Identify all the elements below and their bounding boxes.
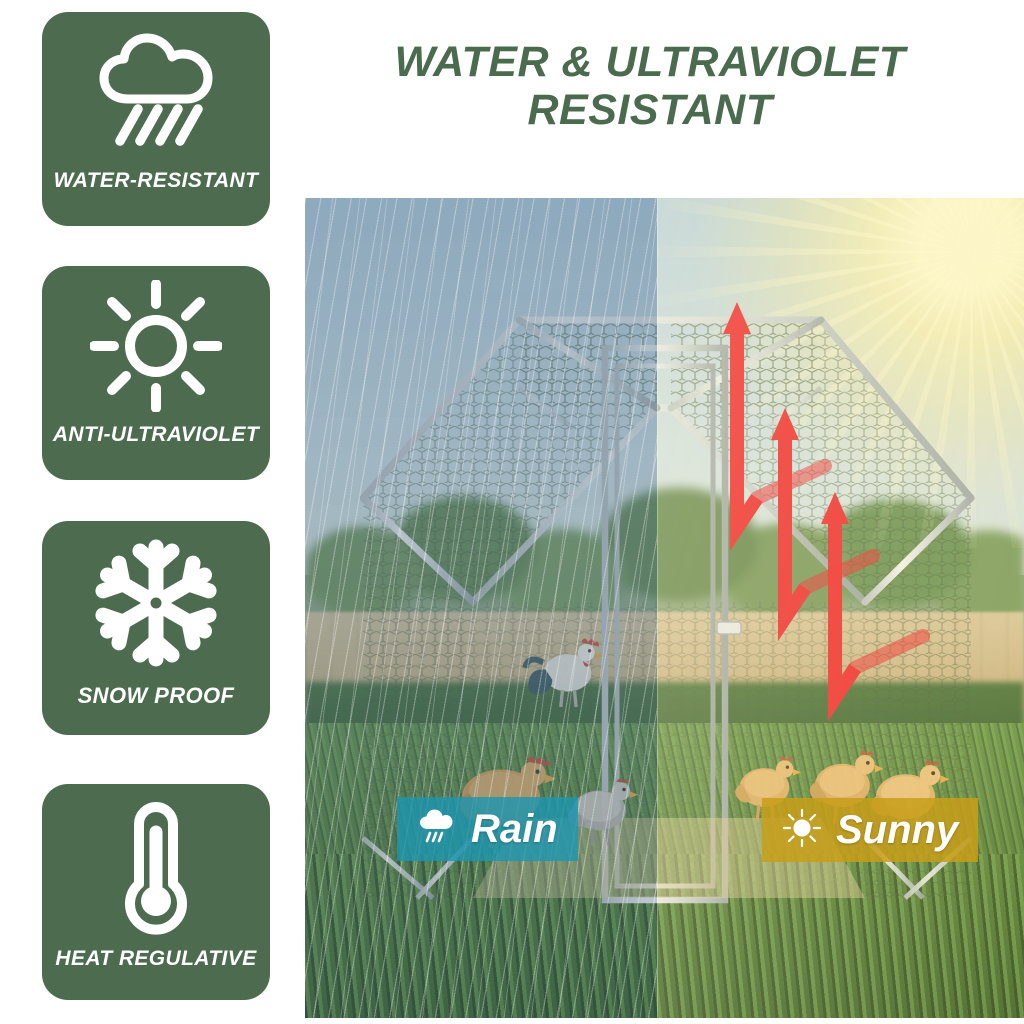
thermometer-icon bbox=[101, 796, 211, 936]
rain-cloud-icon bbox=[417, 807, 457, 852]
weather-split-line bbox=[657, 198, 658, 1018]
weather-chip-sunny: Sunny bbox=[762, 798, 978, 862]
page-title: WATER & ULTRAVIOLET RESISTANT bbox=[300, 38, 1000, 134]
feature-badge-water-resistant: WATER-RESISTANT bbox=[42, 12, 270, 226]
rain-cloud-icon bbox=[92, 28, 220, 156]
infographic-page: WATER-RESISTANT ANTI-ULTRAVIOLET bbox=[0, 0, 1024, 1024]
sunny-side-overlay bbox=[657, 198, 1024, 1018]
feature-badge-label: ANTI-ULTRAVIOLET bbox=[53, 424, 259, 445]
weather-chip-label: Sunny bbox=[836, 810, 958, 850]
feature-badge-heat-regulative: HEAT REGULATIVE bbox=[42, 784, 270, 1000]
feature-badge-label: HEAT REGULATIVE bbox=[55, 948, 256, 969]
rain-streaks-back bbox=[305, 198, 657, 1018]
feature-badge-anti-ultraviolet: ANTI-ULTRAVIOLET bbox=[42, 266, 270, 480]
feature-badge-snow-proof: SNOW PROOF bbox=[42, 521, 270, 735]
snowflake-icon bbox=[90, 537, 222, 669]
weather-chip-rain: Rain bbox=[397, 797, 578, 861]
feature-badge-label: SNOW PROOF bbox=[78, 685, 235, 707]
feature-badge-label: WATER-RESISTANT bbox=[54, 170, 259, 191]
weather-chip-label: Rain bbox=[471, 809, 558, 849]
sun-icon bbox=[90, 280, 222, 412]
sun-icon bbox=[782, 808, 822, 853]
product-photo: Rain Sunny bbox=[305, 198, 1024, 1018]
